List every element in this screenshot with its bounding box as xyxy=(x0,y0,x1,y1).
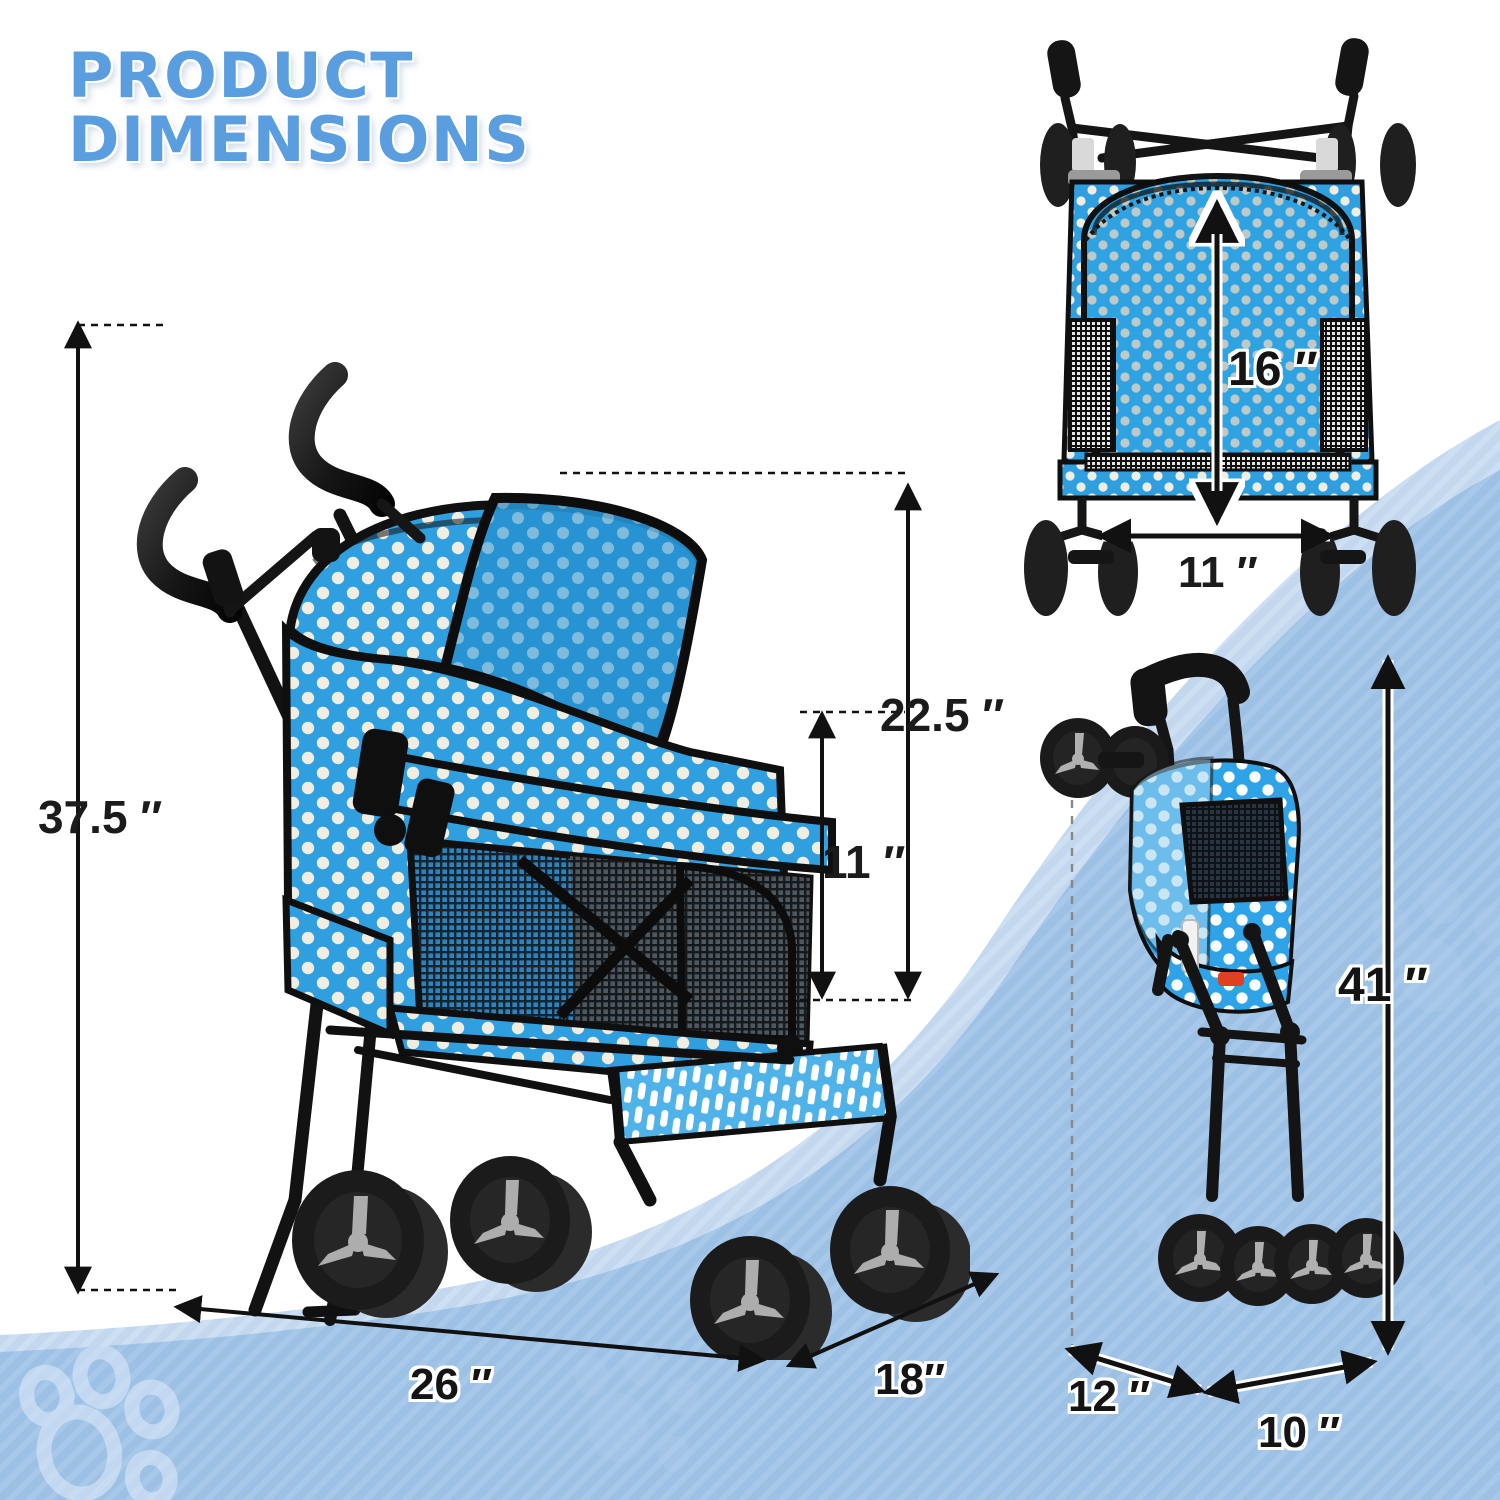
page-title: PRODUCTDIMENSIONS xyxy=(68,44,530,173)
dim-label-overall-height: 37.5 ″ xyxy=(38,790,162,844)
dim-label-cabin-height: 11 ″ xyxy=(822,835,905,889)
dim-label-overall-depth: 18″ xyxy=(875,1355,945,1405)
wheel-group xyxy=(292,1156,970,1360)
page-title-line1: PRODUCT xyxy=(68,39,414,112)
dim-label-folded-width: 10 ″ xyxy=(1258,1408,1340,1458)
page-title-line2: DIMENSIONS xyxy=(68,103,530,176)
front-handles xyxy=(1045,36,1371,100)
dim-label-overall-length: 26 ″ xyxy=(410,1360,492,1410)
infographic-canvas: PRODUCTDIMENSIONS xyxy=(0,0,1500,1500)
dim-label-cabin-interior-height: 16 ″ xyxy=(1228,342,1318,397)
dim-label-cabin-interior-width: 11 ″ xyxy=(1178,548,1258,598)
folded-bottom-wheels xyxy=(1158,1214,1404,1306)
dim-label-seat-to-canopy: 22.5 ″ xyxy=(880,688,1004,742)
dim-label-folded-depth: 12 ″ xyxy=(1068,1372,1150,1422)
front-cabin xyxy=(1060,176,1376,498)
dim-label-folded-height: 41 ″ xyxy=(1338,958,1428,1013)
side-view-stroller-illustration xyxy=(90,300,970,1360)
front-view-stroller-illustration xyxy=(1020,30,1440,630)
